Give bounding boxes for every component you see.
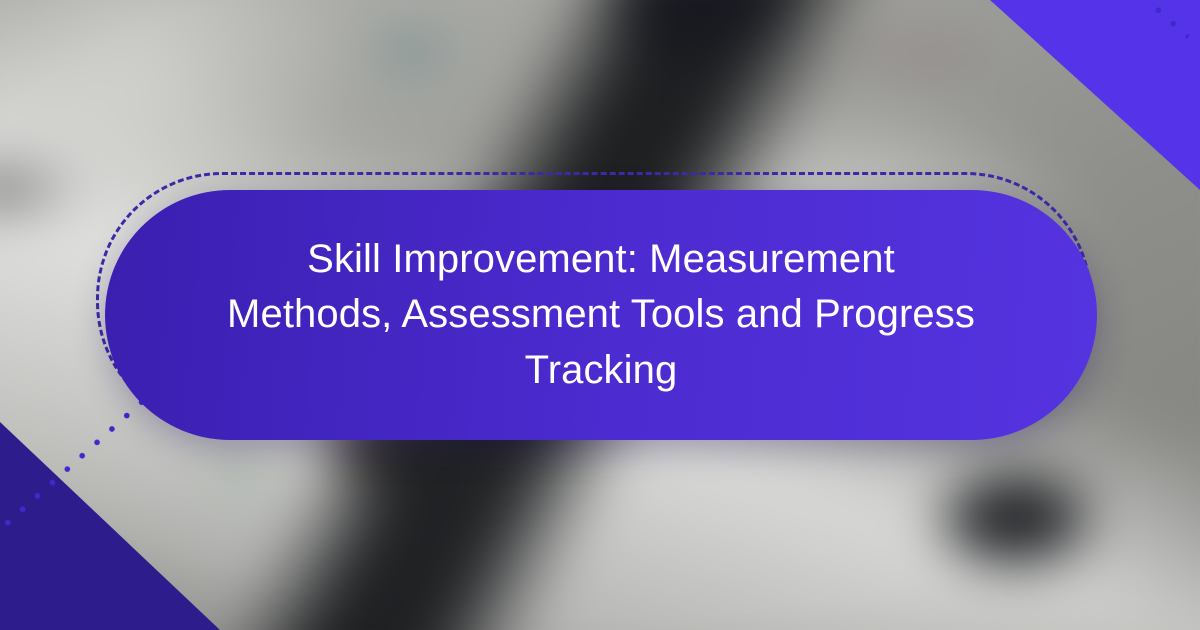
title-card: Skill Improvement: Measurement Methods, … [105,190,1097,440]
page-title: Skill Improvement: Measurement Methods, … [167,232,1035,398]
social-card-canvas: Skill Improvement: Measurement Methods, … [0,0,1200,630]
